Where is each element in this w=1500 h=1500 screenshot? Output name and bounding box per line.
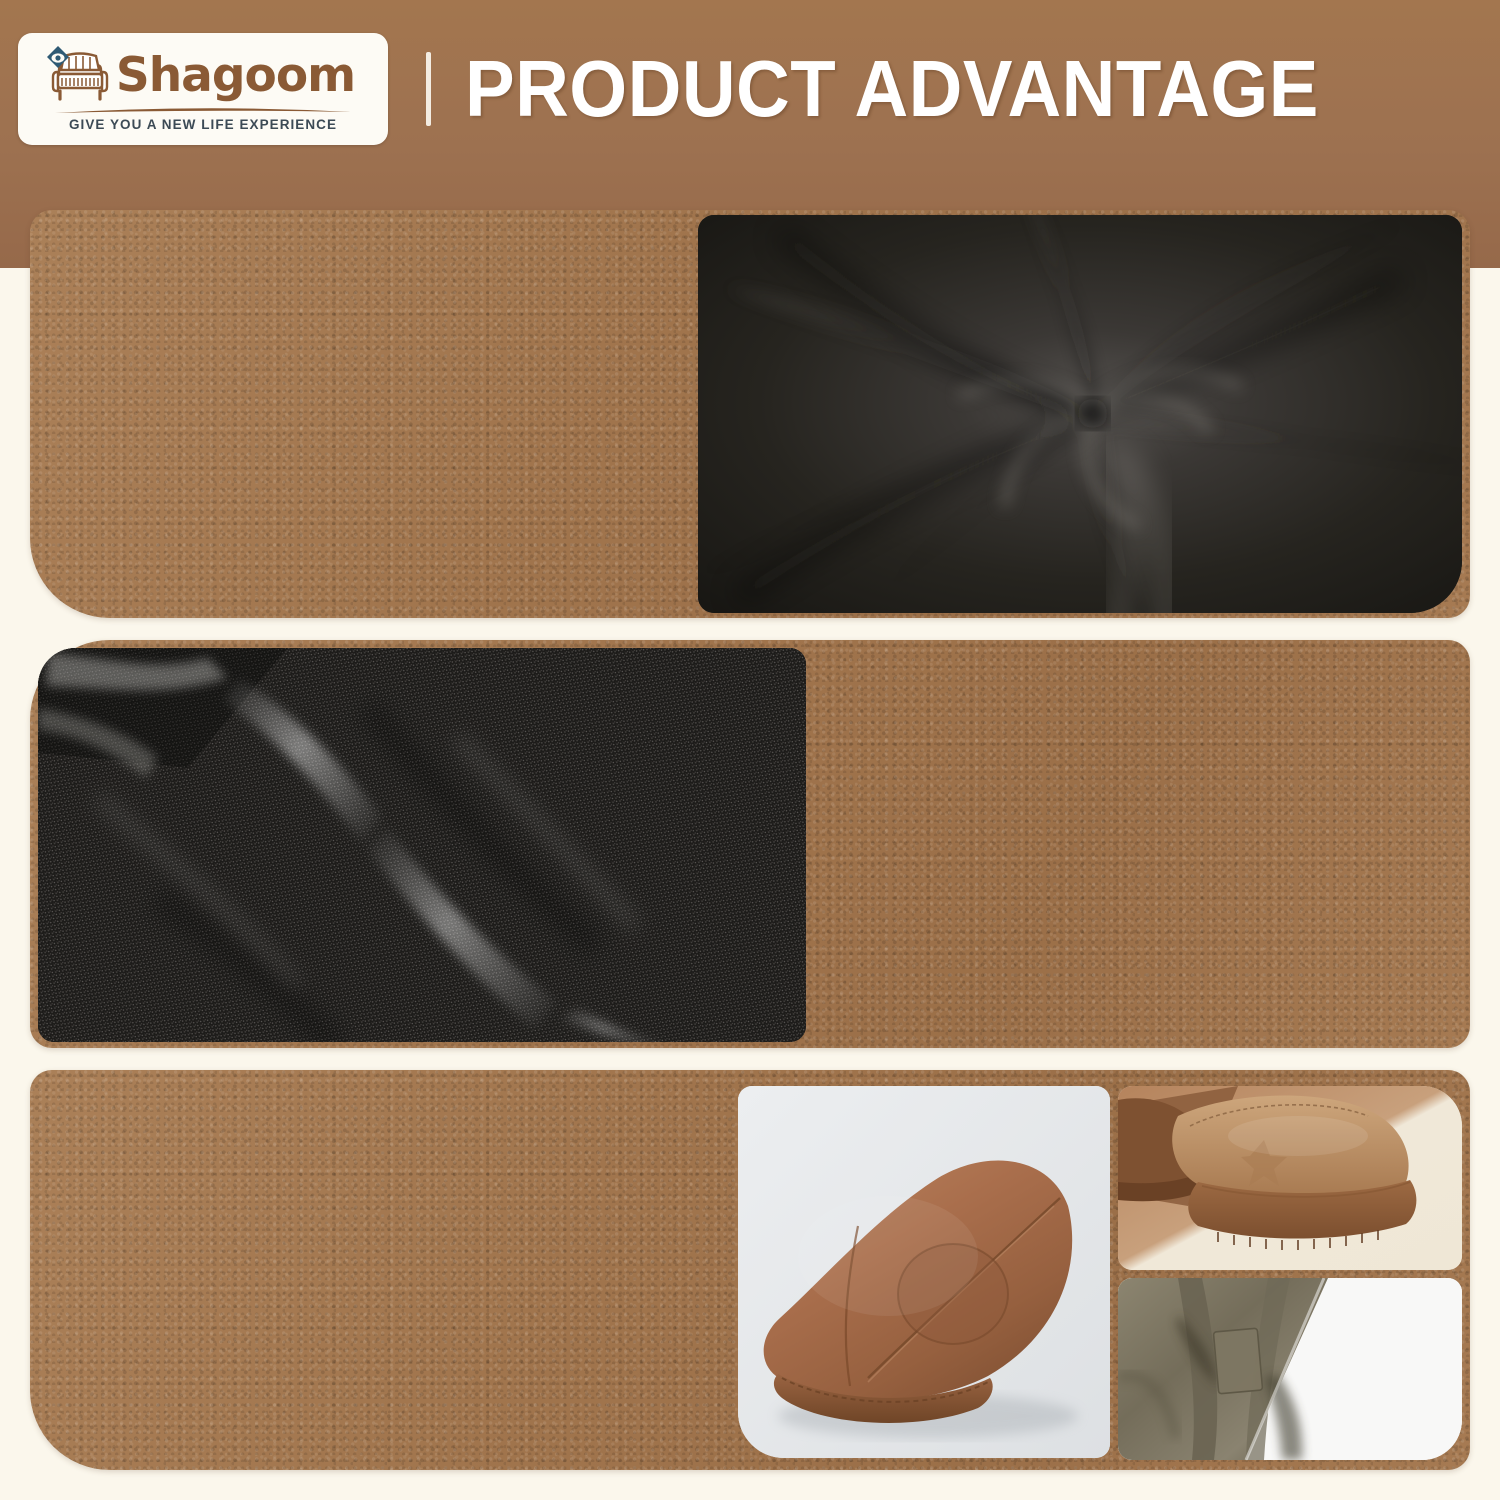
black-adhesive-backing-photo (38, 648, 806, 1042)
brand-tagline: GIVE YOU A NEW LIFE EXPERIENCE (69, 117, 337, 132)
logo-swoosh-divider (53, 106, 353, 115)
olive-suede-jacket-photo (1118, 1278, 1462, 1460)
brand-name-text: Shagoom (116, 52, 355, 99)
header-divider (426, 52, 431, 126)
brand-logo: Shagoom GIVE YOU A NEW LIFE EXPERIENCE (18, 33, 388, 145)
tan-suede-platform-slippers-photo (1118, 1086, 1462, 1270)
page-title: PRODUCT ADVANTAGE (465, 43, 1319, 135)
brown-suede-flat-cap-photo (738, 1086, 1110, 1458)
black-swirled-suede-photo (698, 215, 1462, 613)
brand-name: Shagoom (116, 52, 355, 99)
diamond-eye-icon (45, 44, 71, 70)
